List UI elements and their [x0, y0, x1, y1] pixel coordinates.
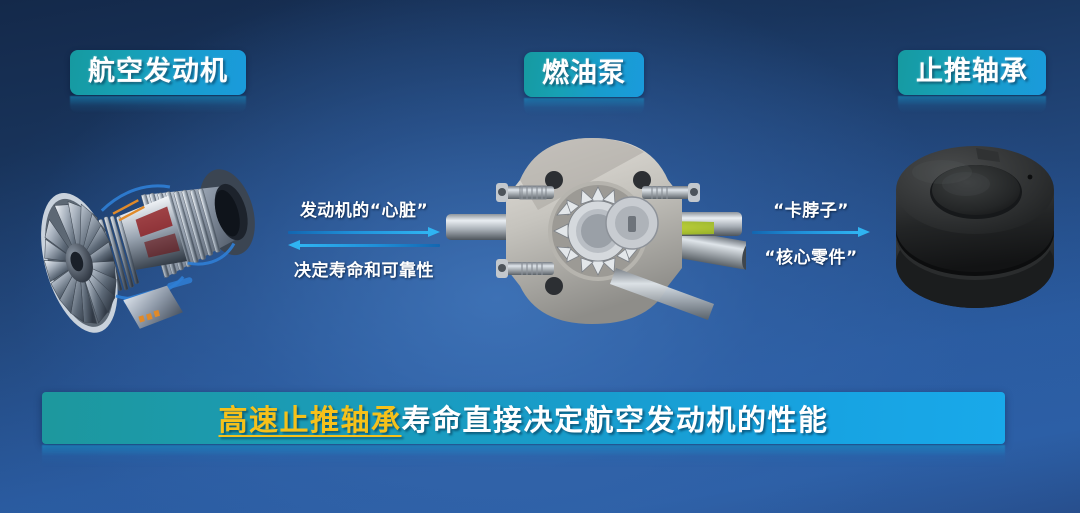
- chip-body-pump[interactable]: 燃油泵: [524, 52, 644, 97]
- annotation-left-top-text: 发动机的“心脏”: [288, 196, 440, 221]
- label-chip-pump[interactable]: 燃油泵: [524, 52, 644, 115]
- conclusion-banner: 高速止推轴承寿命直接决定航空发动机的性能: [42, 392, 1005, 444]
- annotation-left-arrows: [288, 227, 440, 251]
- label-chip-engine[interactable]: 航空发动机: [70, 50, 246, 113]
- banner-reflection: [42, 445, 1005, 467]
- annotation-right-bottom-text: “核心零件”: [752, 243, 870, 268]
- annotation-right-arrows: [752, 227, 870, 238]
- arrow-right-icon: [752, 227, 870, 238]
- chip-reflection-pump: [524, 98, 644, 115]
- annotation-engine-pump: 发动机的“心脏” 决定寿命和可靠性: [288, 196, 440, 281]
- aircraft-engine-image: [10, 112, 300, 342]
- banner-rest-text: 寿命直接决定航空发动机的性能: [402, 403, 829, 437]
- chip-label-bearing: 止推轴承: [916, 57, 1028, 86]
- arrow-right-icon: [288, 227, 440, 238]
- annotation-right-top-text: “卡脖子”: [752, 196, 870, 221]
- chip-label-engine: 航空发动机: [88, 57, 228, 86]
- banner-highlight-text: 高速止推轴承: [218, 403, 401, 437]
- annotation-pump-bearing: “卡脖子” “核心零件”: [752, 196, 870, 268]
- fuel-pump-image: [446, 128, 746, 333]
- thrust-bearing-image: [880, 132, 1070, 322]
- slide-canvas: 航空发动机 燃油泵 止推轴承 发动机的“心脏” 决定寿命和可靠性 “卡脖子”: [0, 0, 1080, 513]
- chip-reflection-engine: [70, 96, 246, 113]
- chip-label-pump: 燃油泵: [542, 59, 626, 88]
- chip-reflection-bearing: [898, 96, 1046, 113]
- annotation-left-bottom-text: 决定寿命和可靠性: [288, 256, 440, 281]
- chip-body-bearing[interactable]: 止推轴承: [898, 50, 1046, 95]
- arrow-left-icon: [288, 240, 440, 251]
- banner-text: 高速止推轴承寿命直接决定航空发动机的性能: [218, 397, 828, 439]
- chip-body-engine[interactable]: 航空发动机: [70, 50, 246, 95]
- label-chip-bearing[interactable]: 止推轴承: [898, 50, 1046, 113]
